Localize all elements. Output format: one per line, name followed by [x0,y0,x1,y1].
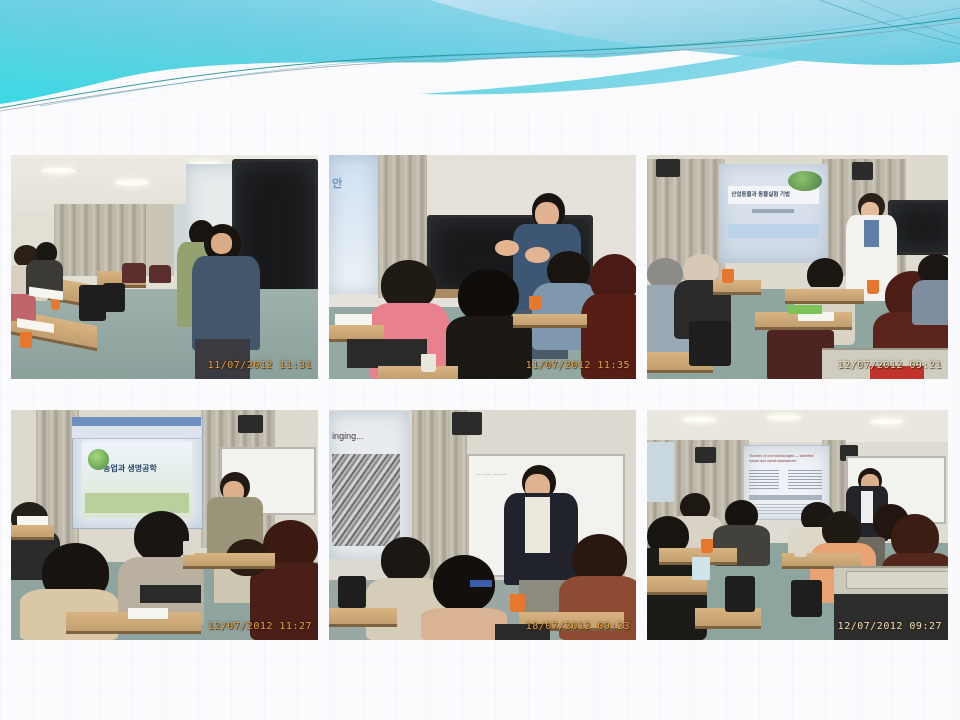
photo-5-scene: inging... ㅡ ㅡㅡ ㅡㅡㅡ [329,410,636,640]
photo-2-slide-text: 안 [332,175,342,191]
photo-1[interactable]: 11/07/2012 11:31 [11,155,318,379]
decorative-wave-banner [0,0,960,112]
photo-6[interactable]: Transfer of new technologies — identifie… [647,410,948,640]
photo-3[interactable]: 산업동물과 동물실험 기법 [647,155,948,379]
photo-2[interactable]: 안 [329,155,636,379]
photo-3-slide-text: 산업동물과 동물실험 기법 [731,190,790,198]
photo-6-scene: Transfer of new technologies — identifie… [647,410,948,640]
photo-4-scene: 농업과 생명공학 [11,410,318,640]
photo-2-scene: 안 [329,155,636,379]
photo-4[interactable]: 농업과 생명공학 [11,410,318,640]
photo-4-slide-text: 농업과 생명공학 [103,463,157,474]
photo-3-scene: 산업동물과 동물실험 기법 [647,155,948,379]
photo-5[interactable]: inging... ㅡ ㅡㅡ ㅡㅡㅡ [329,410,636,640]
photo-1-scene [11,155,318,379]
photo-5-slide-text: inging... [332,431,364,441]
wave-graphic [0,0,960,112]
photo-grid: 11/07/2012 11:31 안 [11,155,949,640]
